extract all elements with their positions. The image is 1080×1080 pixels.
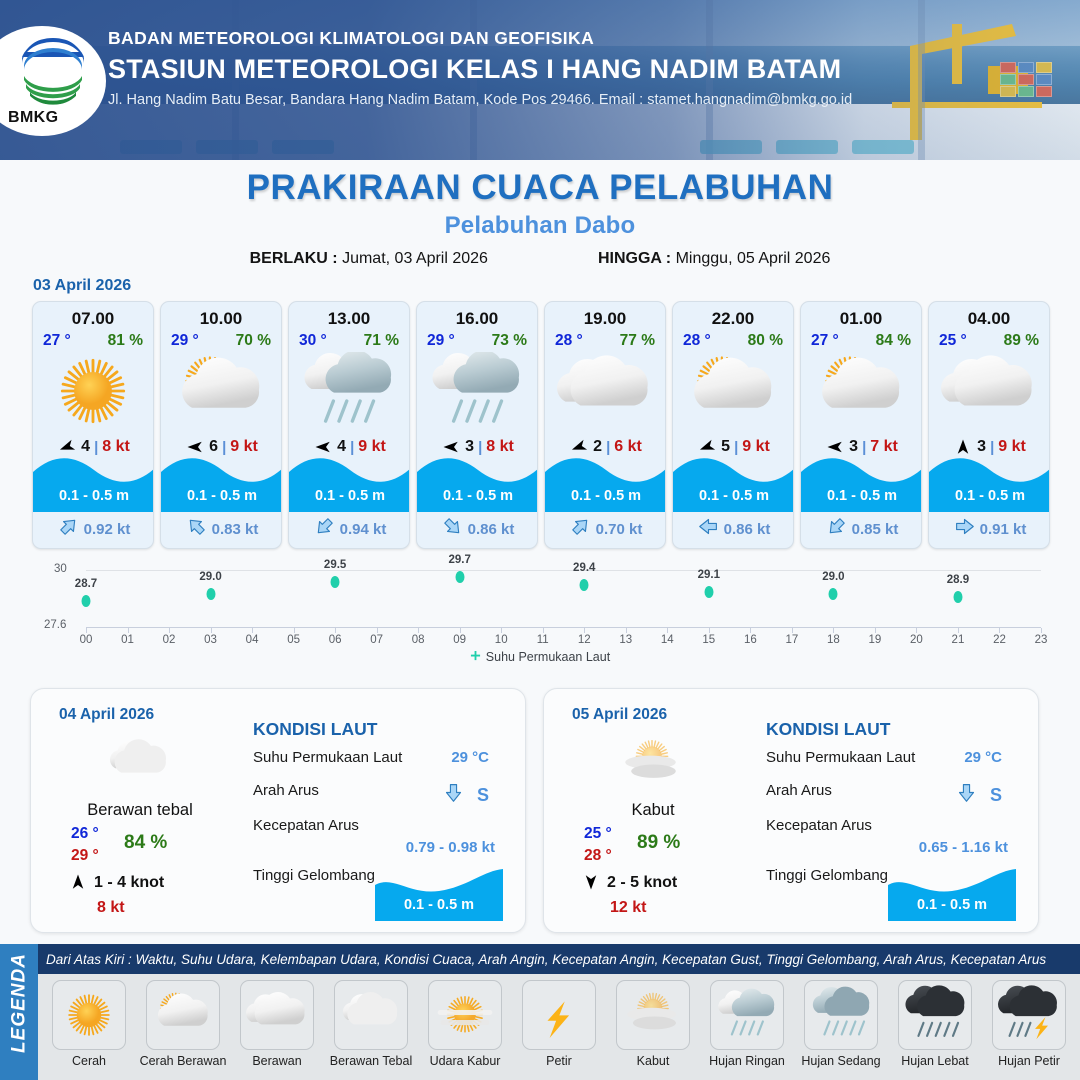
chart-x-tick-label: 11 (537, 634, 549, 646)
card-temp-hum: 25 ° 89 % (929, 329, 1049, 350)
card-wave-height: 0.1 - 0.5 m (33, 488, 154, 504)
page-subtitle: Pelabuhan Dabo (0, 212, 1080, 240)
chart-point-label: 29.5 (324, 559, 346, 571)
daily-gust: 12 kt (610, 899, 646, 917)
wave-height-label: Tinggi Gelombang (253, 867, 375, 884)
chart-x-tick (501, 628, 502, 633)
daily-panel-2: 05 April 2026 Kabut 25 ° 28 ° 89 % 2 - 5… (543, 688, 1039, 933)
chart-x-tick (418, 628, 419, 633)
daily-date: 05 April 2026 (572, 706, 667, 724)
chart-x-tick-label: 17 (785, 634, 798, 646)
chart-x-tick-label: 15 (702, 634, 715, 646)
chart-x-tick-label: 13 (619, 634, 632, 646)
chart-x-tick-label: 22 (993, 634, 1006, 646)
daily-wind-range: 2 - 5 knot (607, 874, 677, 892)
legend-item: Hujan Petir (982, 980, 1076, 1068)
chart-x-tick (875, 628, 876, 633)
card-humidity: 73 % (492, 332, 527, 350)
chart-x-tick (709, 628, 710, 633)
current-speed-value: 0.65 - 1.16 kt (919, 839, 1008, 856)
legend-item: Cerah Berawan (136, 980, 230, 1068)
card-temp-hum: 27 ° 84 % (801, 329, 921, 350)
legend-section: LEGENDA Dari Atas Kiri : Waktu, Suhu Uda… (0, 944, 1080, 1080)
forecast-card[interactable]: 01.00 27 ° 84 % 3 | 7 kt 0.1 - 0.5 m (800, 301, 922, 549)
card-humidity: 71 % (364, 332, 399, 350)
legend-item: Udara Kabur (418, 980, 512, 1068)
chart-ymax-label: 30 (54, 563, 67, 575)
legend-item-label: Berawan (230, 1054, 324, 1068)
daily-humidity: 84 % (124, 832, 167, 854)
card-humidity: 77 % (620, 332, 655, 350)
legend-icon-udara-kabur (428, 980, 502, 1050)
hourly-forecast-row: 07.00 27 ° 81 % 4 | 8 kt 0.1 - 0.5 m 0.9 (32, 301, 1048, 551)
forecast-card[interactable]: 13.00 30 ° 71 % 4 | 9 kt 0.1 - 0.5 m (288, 301, 410, 549)
forecast-card[interactable]: 10.00 29 ° 70 % 6 | 9 kt 0.1 - 0.5 m (160, 301, 282, 549)
valid-until-value: Minggu, 05 April 2026 (676, 250, 831, 267)
chart-x-tick (169, 628, 170, 633)
card-current-speed: 0.92 kt (84, 521, 131, 538)
chart-data-point (206, 588, 215, 600)
chart-x-tick (460, 628, 461, 633)
chart-x-tick (833, 628, 834, 633)
chart-x-tick (958, 628, 959, 633)
legend-item-label: Kabut (606, 1054, 700, 1068)
card-weather-icon-hujan-ringan (289, 352, 409, 430)
card-time: 22.00 (673, 309, 793, 329)
valid-from-label: BERLAKU : (250, 250, 338, 267)
chart-x-tick-label: 19 (869, 634, 882, 646)
chart-legend-label: Suhu Permukaan Laut (486, 650, 610, 664)
card-temperature: 29 ° (427, 332, 455, 350)
daily-temp-max: 28 ° (584, 847, 612, 865)
card-wave-height: 0.1 - 0.5 m (417, 488, 538, 504)
card-time: 16.00 (417, 309, 537, 329)
wind-direction-arrow-icon (580, 873, 600, 893)
card-temperature: 25 ° (939, 332, 967, 350)
card-weather-icon-cerah-berawan (801, 352, 921, 430)
chart-data-point (829, 588, 838, 600)
daily-wave-value: 0.1 - 0.5 m (888, 897, 1016, 913)
chart-point-label: 29.7 (448, 554, 470, 566)
chart-point-label: 29.1 (698, 569, 720, 581)
forecast-row-date: 03 April 2026 (33, 277, 131, 295)
chart-data-point (704, 586, 713, 598)
legend-item-label: Hujan Lebat (888, 1054, 982, 1068)
chart-x-tick-label: 21 (952, 634, 965, 646)
card-current-row: 0.94 kt (289, 513, 410, 545)
chart-x-tick (792, 628, 793, 633)
legend-item-label: Hujan Petir (982, 1054, 1076, 1068)
chart-ymin-label: 27.6 (44, 619, 66, 631)
chart-x-tick (999, 628, 1000, 633)
card-temperature: 27 ° (43, 332, 71, 350)
chart-x-tick-label: 03 (204, 634, 217, 646)
card-humidity: 81 % (108, 332, 143, 350)
forecast-card[interactable]: 19.00 28 ° 77 % 2 | 6 kt 0.1 - 0.5 m (544, 301, 666, 549)
forecast-card[interactable]: 16.00 29 ° 73 % 3 | 8 kt 0.1 - 0.5 m (416, 301, 538, 549)
legend-icon-kabut (616, 980, 690, 1050)
chart-x-tick-label: 12 (578, 634, 591, 646)
valid-from-value: Jumat, 03 April 2026 (342, 250, 488, 267)
chart-x-tick-label: 00 (80, 634, 93, 646)
current-direction-arrow-icon (442, 516, 463, 542)
legend-strip-label: LEGENDA (9, 946, 31, 1061)
card-wave-height: 0.1 - 0.5 m (289, 488, 410, 504)
legend-icon-petir (522, 980, 596, 1050)
legend-item-label: Cerah Berawan (136, 1054, 230, 1068)
daily-wave-value: 0.1 - 0.5 m (375, 897, 503, 913)
card-wave-height: 0.1 - 0.5 m (801, 488, 922, 504)
chart-x-tick-label: 07 (370, 634, 383, 646)
current-direction-label: Arah Arus (253, 782, 319, 799)
card-time: 04.00 (929, 309, 1049, 329)
current-direction-label: Arah Arus (766, 782, 832, 799)
forecast-card[interactable]: 07.00 27 ° 81 % 4 | 8 kt 0.1 - 0.5 m 0.9 (32, 301, 154, 549)
chart-point-label: 28.9 (947, 574, 969, 586)
chart-plot-area: 28.729.029.529.729.429.129.028.9 (86, 570, 1041, 628)
legend-item-label: Hujan Sedang (794, 1054, 888, 1068)
current-direction-arrow-icon (698, 516, 719, 542)
chart-gridline-top (86, 570, 1041, 571)
legend-icon-berawan-tebal (334, 980, 408, 1050)
legend-item: Kabut (606, 980, 700, 1068)
chart-x-tick (750, 628, 751, 633)
chart-x-tick (1041, 628, 1042, 633)
legend-icon-hujan-petir (992, 980, 1066, 1050)
chart-x-tick-label: 23 (1035, 634, 1048, 646)
chart-x-tick (294, 628, 295, 633)
forecast-card[interactable]: 04.00 25 ° 89 % 3 | 9 kt 0.1 - 0.5 m (928, 301, 1050, 549)
chart-x-tick-label: 05 (287, 634, 300, 646)
bmkg-logo-text: BMKG (8, 109, 96, 127)
page-title-block: PRAKIRAAN CUACA PELABUHAN Pelabuhan Dabo (0, 168, 1080, 240)
legend-icon-hujan-ringan (710, 980, 784, 1050)
forecast-card[interactable]: 22.00 28 ° 80 % 5 | 9 kt 0.1 - 0.5 m (672, 301, 794, 549)
current-direction-arrow-icon (58, 516, 79, 542)
legend-items: Cerah Cerah Berawan Berawan Berawan Teba… (38, 974, 1080, 1080)
card-wave-height: 0.1 - 0.5 m (673, 488, 794, 504)
daily-panel-1: 04 April 2026 Berawan tebal 26 ° 29 ° 84… (30, 688, 526, 933)
sst-chart: 30 27.6 28.729.029.529.729.429.129.028.9… (28, 562, 1052, 662)
legend-icon-hujan-sedang (804, 980, 878, 1050)
daily-wind-row: 2 - 5 knot (580, 873, 677, 893)
card-current-speed: 0.86 kt (468, 521, 515, 538)
chart-data-point (580, 579, 589, 591)
card-temperature: 30 ° (299, 332, 327, 350)
card-weather-icon-berawan (929, 352, 1049, 430)
card-wave-height: 0.1 - 0.5 m (545, 488, 666, 504)
current-speed-value: 0.79 - 0.98 kt (406, 839, 495, 856)
chart-legend-marker-icon (470, 651, 481, 662)
sea-conditions-title: KONDISI LAUT (253, 719, 377, 740)
card-time: 07.00 (33, 309, 153, 329)
sea-conditions-title: KONDISI LAUT (766, 719, 890, 740)
legend-item-label: Cerah (42, 1054, 136, 1068)
chart-x-tick-label: 06 (329, 634, 342, 646)
chart-x-tick-label: 04 (246, 634, 259, 646)
card-time: 01.00 (801, 309, 921, 329)
current-direction-value: S (477, 785, 489, 806)
card-current-row: 0.91 kt (929, 513, 1050, 545)
card-weather-icon-cerah-berawan (161, 352, 281, 430)
card-weather-icon-hujan-ringan (417, 352, 537, 430)
daily-temp-min: 26 ° (71, 825, 99, 843)
sst-label: Suhu Permukaan Laut (766, 749, 915, 766)
daily-gust: 8 kt (97, 899, 125, 917)
legend-icon-cerah (52, 980, 126, 1050)
sst-label: Suhu Permukaan Laut (253, 749, 402, 766)
daily-wind-range: 1 - 4 knot (94, 874, 164, 892)
chart-x-tick-label: 16 (744, 634, 757, 646)
daily-temp-min: 25 ° (584, 825, 612, 843)
chart-data-point (455, 571, 464, 583)
card-humidity: 84 % (876, 332, 911, 350)
current-direction-arrow-icon (956, 782, 976, 808)
chart-data-point (82, 595, 91, 607)
page-title: PRAKIRAAN CUACA PELABUHAN (0, 168, 1080, 208)
legend-strip: LEGENDA (0, 944, 38, 1080)
card-current-row: 0.92 kt (33, 513, 154, 545)
current-direction-arrow-icon (826, 516, 847, 542)
card-temperature: 28 ° (555, 332, 583, 350)
chart-x-tick-label: 10 (495, 634, 508, 646)
current-direction-value: S (990, 785, 1002, 806)
sst-value: 29 °C (964, 749, 1002, 766)
chart-point-label: 28.7 (75, 578, 97, 590)
chart-x-tick-label: 20 (910, 634, 923, 646)
legend-icon-cerah-berawan (146, 980, 220, 1050)
station-address: Jl. Hang Nadim Batu Besar, Bandara Hang … (108, 92, 852, 108)
daily-temp-max: 29 ° (71, 847, 99, 865)
legend-icon-berawan (240, 980, 314, 1050)
card-current-speed: 0.91 kt (980, 521, 1027, 538)
chart-data-point (331, 576, 340, 588)
legend-item: Berawan Tebal (324, 980, 418, 1068)
legend-item-label: Petir (512, 1054, 606, 1068)
chart-x-tick (252, 628, 253, 633)
card-humidity: 89 % (1004, 332, 1039, 350)
card-temperature: 27 ° (811, 332, 839, 350)
card-current-row: 0.85 kt (801, 513, 922, 545)
chart-point-label: 29.0 (822, 571, 844, 583)
legend-icon-hujan-lebat (898, 980, 972, 1050)
chart-x-tick-label: 08 (412, 634, 425, 646)
card-wave-height: 0.1 - 0.5 m (929, 488, 1050, 504)
card-temp-hum: 28 ° 80 % (673, 329, 793, 350)
daily-humidity: 89 % (637, 832, 680, 854)
page-header: BMKG BADAN METEOROLOGI KLIMATOLOGI DAN G… (0, 0, 1080, 160)
legend-item: Petir (512, 980, 606, 1068)
chart-x-tick (211, 628, 212, 633)
chart-point-label: 29.0 (199, 571, 221, 583)
daily-wave-graphic (888, 869, 1016, 921)
card-temperature: 28 ° (683, 332, 711, 350)
validity-row: BERLAKU : Jumat, 03 April 2026 HINGGA : … (0, 250, 1080, 268)
legend-item-label: Berawan Tebal (324, 1054, 418, 1068)
valid-until-label: HINGGA : (598, 250, 671, 267)
card-temp-hum: 30 ° 71 % (289, 329, 409, 350)
card-weather-icon-cerah (33, 352, 153, 430)
station-name: STASIUN METEOROLOGI KELAS I HANG NADIM B… (108, 54, 852, 85)
legend-caption: Dari Atas Kiri : Waktu, Suhu Udara, Kele… (38, 944, 1080, 974)
chart-x-tick-label: 01 (121, 634, 134, 646)
valid-from: BERLAKU : Jumat, 03 April 2026 (250, 250, 488, 268)
card-weather-icon-cerah-berawan (673, 352, 793, 430)
current-speed-label: Kecepatan Arus (253, 817, 359, 834)
chart-x-tick-label: 02 (163, 634, 176, 646)
chart-x-tick (86, 628, 87, 633)
card-time: 10.00 (161, 309, 281, 329)
current-direction-arrow-icon (443, 782, 463, 808)
legend-item: Cerah (42, 980, 136, 1068)
card-current-speed: 0.85 kt (852, 521, 899, 538)
current-direction-arrow-icon (954, 516, 975, 542)
card-temperature: 29 ° (171, 332, 199, 350)
chart-x-tick-label: 09 (453, 634, 466, 646)
daily-wave-graphic (375, 869, 503, 921)
chart-x-tick (626, 628, 627, 633)
daily-date: 04 April 2026 (59, 706, 154, 724)
current-direction-arrow-icon (186, 516, 207, 542)
card-time: 13.00 (289, 309, 409, 329)
wind-direction-arrow-icon (67, 873, 87, 893)
chart-x-axis: 0001020304050607080910111213141516171819… (86, 628, 1041, 650)
card-current-speed: 0.94 kt (340, 521, 387, 538)
chart-x-tick (543, 628, 544, 633)
card-current-speed: 0.83 kt (212, 521, 259, 538)
agency-name: BADAN METEOROLOGI KLIMATOLOGI DAN GEOFIS… (108, 28, 852, 49)
chart-x-tick (916, 628, 917, 633)
chart-x-tick (667, 628, 668, 633)
card-temp-hum: 28 ° 77 % (545, 329, 665, 350)
card-current-row: 0.83 kt (161, 513, 282, 545)
chart-point-label: 29.4 (573, 562, 595, 574)
card-temp-hum: 29 ° 70 % (161, 329, 281, 350)
current-direction-arrow-icon (570, 516, 591, 542)
card-current-speed: 0.86 kt (724, 521, 771, 538)
chart-data-point (953, 591, 962, 603)
legend-item: Hujan Sedang (794, 980, 888, 1068)
card-humidity: 70 % (236, 332, 271, 350)
daily-weather-icon-kabut (604, 737, 700, 789)
legend-item: Hujan Lebat (888, 980, 982, 1068)
current-direction-arrow-icon (314, 516, 335, 542)
legend-item-label: Hujan Ringan (700, 1054, 794, 1068)
current-speed-label: Kecepatan Arus (766, 817, 872, 834)
wave-height-label: Tinggi Gelombang (766, 867, 888, 884)
card-wave-height: 0.1 - 0.5 m (161, 488, 282, 504)
legend-item: Berawan (230, 980, 324, 1068)
card-humidity: 80 % (748, 332, 783, 350)
sst-value: 29 °C (451, 749, 489, 766)
chart-x-tick-label: 18 (827, 634, 840, 646)
chart-x-tick (128, 628, 129, 633)
legend-item-label: Udara Kabur (418, 1054, 512, 1068)
chart-x-tick-label: 14 (661, 634, 674, 646)
card-current-row: 0.86 kt (417, 513, 538, 545)
header-text-block: BADAN METEOROLOGI KLIMATOLOGI DAN GEOFIS… (108, 28, 852, 108)
card-current-row: 0.70 kt (545, 513, 666, 545)
card-current-speed: 0.70 kt (596, 521, 643, 538)
daily-condition: Berawan tebal (45, 801, 235, 820)
chart-x-tick (335, 628, 336, 633)
daily-weather-icon-berawan-tebal (91, 737, 187, 789)
daily-condition: Kabut (558, 801, 748, 820)
card-current-row: 0.86 kt (673, 513, 794, 545)
card-time: 19.00 (545, 309, 665, 329)
card-temp-hum: 27 ° 81 % (33, 329, 153, 350)
card-weather-icon-berawan (545, 352, 665, 430)
daily-wind-row: 1 - 4 knot (67, 873, 164, 893)
chart-legend: Suhu Permukaan Laut (28, 650, 1052, 664)
bmkg-emblem-icon (18, 36, 88, 106)
card-temp-hum: 29 ° 73 % (417, 329, 537, 350)
legend-item: Hujan Ringan (700, 980, 794, 1068)
valid-until: HINGGA : Minggu, 05 April 2026 (598, 250, 830, 268)
chart-x-tick (377, 628, 378, 633)
chart-x-tick (584, 628, 585, 633)
